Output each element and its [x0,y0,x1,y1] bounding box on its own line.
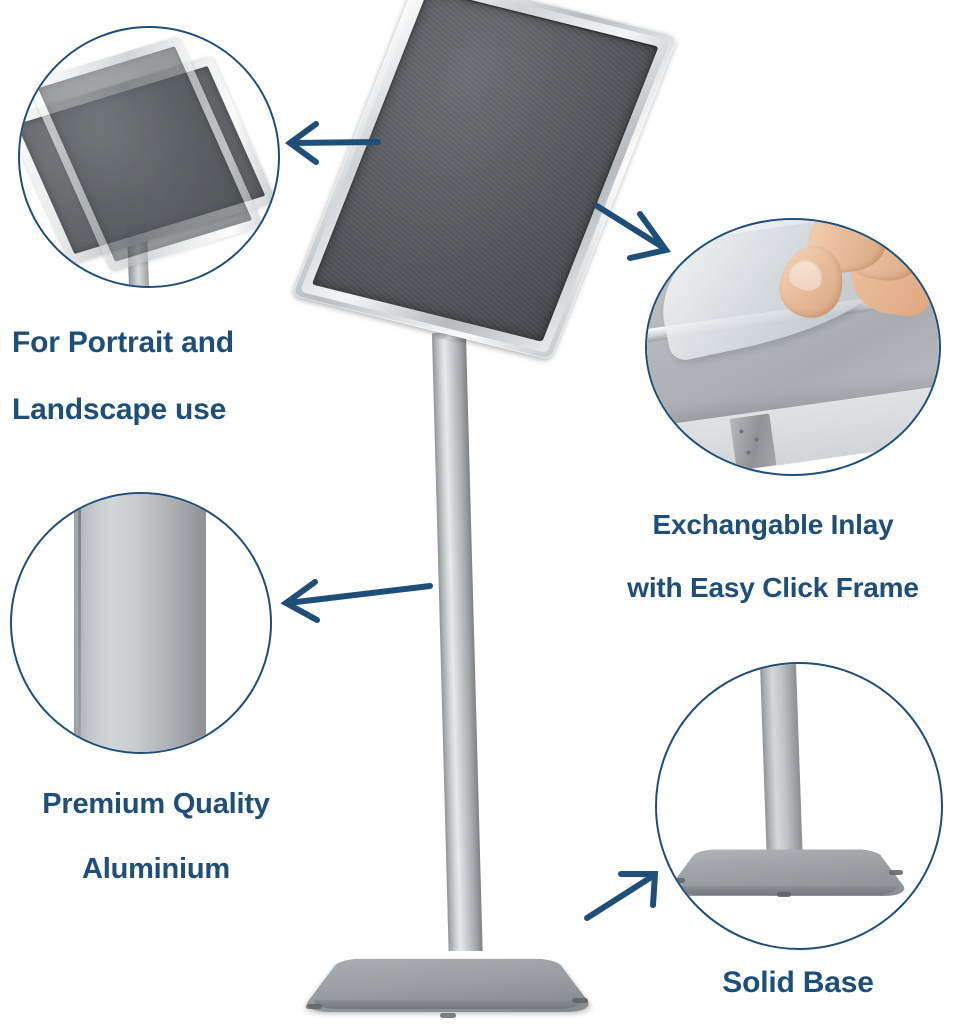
product-pole [432,336,483,951]
frame-insert-panel [312,0,658,342]
caption-line: Exchangable Inlay [592,509,954,540]
callout-portrait-landscape [18,26,280,288]
callout-premium-aluminium [10,492,272,754]
base-foot [572,998,588,1003]
base-foot [889,870,903,875]
hand-icon [773,220,923,334]
caption-line: Premium Quality [6,788,306,820]
callout-portrait-landscape-image [20,28,278,286]
caption-line: Landscape use [12,393,302,427]
caption-solid-base: Solid Base [648,932,948,1024]
callout-exchangable-inlay-image [647,220,939,474]
caption-line: For Portrait and [12,326,302,360]
product-snap-frame [288,0,680,352]
caption-line: Aluminium [6,853,306,885]
callout-solid-base [655,662,943,950]
infographic-canvas: For Portrait and Landscape use Exchangab… [0,0,954,1024]
product-base [300,916,596,1020]
base-plate-edge [314,1000,582,1009]
base-foot [306,1004,322,1009]
caption-line: Solid Base [648,966,948,1000]
callout-premium-aluminium-image [12,494,270,752]
base-foot [671,878,685,883]
caption-premium-aluminium: Premium Quality Aluminium [6,756,306,918]
caption-portrait-landscape: For Portrait and Landscape use [12,292,302,460]
base-callout-pole [760,664,803,850]
base-foot [777,892,791,897]
caption-line: with Easy Click Frame [592,572,954,603]
callout-solid-base-image [657,664,941,948]
aluminium-pole-closeup [74,494,206,752]
callout-exchangable-inlay [645,218,941,476]
caption-exchangable-inlay: Exchangable Inlay with Easy Click Frame [592,478,954,635]
frame-corner-bracket [730,413,777,470]
frame-profile [292,0,679,360]
base-foot [440,1013,456,1018]
